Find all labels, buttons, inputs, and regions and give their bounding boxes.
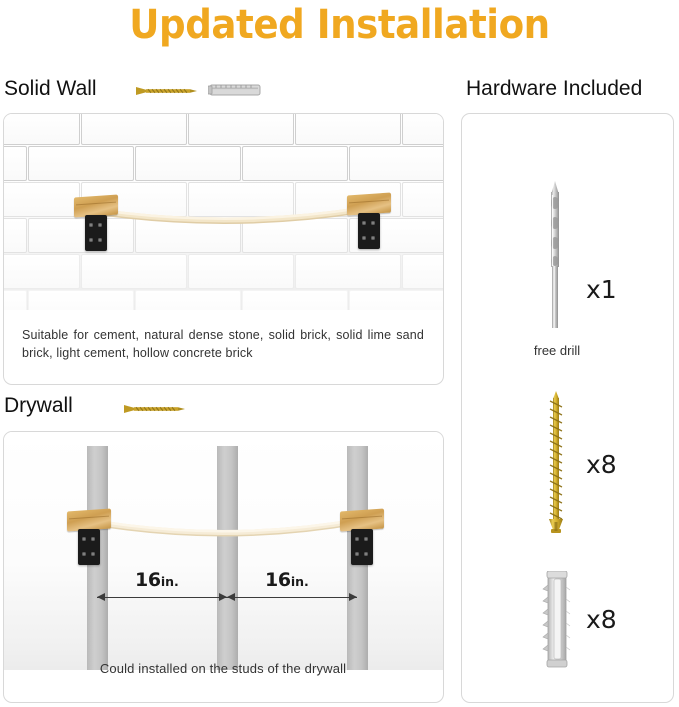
dimension-unit: in. (291, 574, 309, 589)
brick (4, 114, 80, 145)
brick (188, 182, 294, 217)
screw-icon (124, 402, 186, 420)
brick (4, 254, 80, 289)
wall-anchor-quantity: x8 (586, 605, 617, 634)
screw-icon (136, 84, 198, 102)
mounting-plate (358, 213, 380, 249)
brick (135, 146, 241, 181)
brick (28, 290, 134, 310)
installation-infographic: Updated Installation Solid Wall (0, 0, 679, 707)
brick (81, 114, 187, 145)
dimension-label-2: 16in. (265, 569, 309, 591)
stud-bracket-left (67, 510, 111, 568)
brick (349, 290, 443, 310)
wall-stud (217, 446, 238, 670)
brick (349, 146, 443, 181)
brick (81, 254, 187, 289)
dimension-arrow-right-1 (219, 593, 227, 601)
drywall-caption: Could installed on the studs of the dryw… (22, 660, 424, 679)
page-title: Updated Installation (24, 2, 655, 48)
drill-bit-label: free drill (502, 343, 612, 358)
brick (295, 254, 401, 289)
dimension-arrow-left-1 (97, 593, 105, 601)
brick (28, 146, 134, 181)
mounting-plate (85, 215, 107, 251)
brick-row (4, 114, 443, 146)
brick-row (4, 254, 443, 290)
drill-bit-icon (544, 181, 566, 333)
wall-anchor-icon (208, 82, 262, 103)
brick-row (4, 146, 443, 182)
hardware-panel: x1 free drill (461, 113, 674, 703)
dimension-arrow-right-2 (349, 593, 357, 601)
screw-icon (546, 391, 566, 544)
brick (4, 182, 80, 217)
mounting-plate (78, 529, 100, 565)
wall-anchor-icon (542, 571, 572, 674)
mounting-plate (351, 529, 373, 565)
brick (242, 290, 348, 310)
brick (4, 146, 27, 181)
brick (135, 290, 241, 310)
brick (402, 182, 443, 217)
brick (402, 114, 443, 145)
screw-quantity: x8 (586, 450, 617, 479)
dimension-arrow-left-2 (227, 593, 235, 601)
brick (188, 114, 294, 145)
dimension-unit: in. (161, 574, 179, 589)
brick (295, 114, 401, 145)
solid-wall-heading: Solid Wall (4, 77, 97, 101)
dimension-line-1 (97, 597, 227, 598)
hardware-heading: Hardware Included (466, 77, 642, 101)
wall-bracket-right (347, 194, 391, 252)
brick (188, 254, 294, 289)
brick (242, 146, 348, 181)
brick (4, 290, 27, 310)
brick (402, 254, 443, 289)
drill-bit-quantity: x1 (586, 275, 617, 304)
dimension-value: 16 (135, 569, 161, 591)
dimension-value: 16 (265, 569, 291, 591)
brick (4, 218, 27, 253)
solid-wall-caption: Suitable for cement, natural dense stone… (22, 326, 424, 362)
dimension-line-2 (227, 597, 357, 598)
drywall-heading: Drywall (4, 394, 73, 418)
drywall-scene: 16in. 16in. (4, 432, 443, 670)
dimension-label-1: 16in. (135, 569, 179, 591)
wall-bracket-left (74, 196, 118, 254)
wood-rail (87, 516, 359, 540)
brick (135, 218, 241, 253)
stud-bracket-right (340, 510, 384, 568)
brick (242, 218, 348, 253)
brick-row (4, 290, 443, 310)
